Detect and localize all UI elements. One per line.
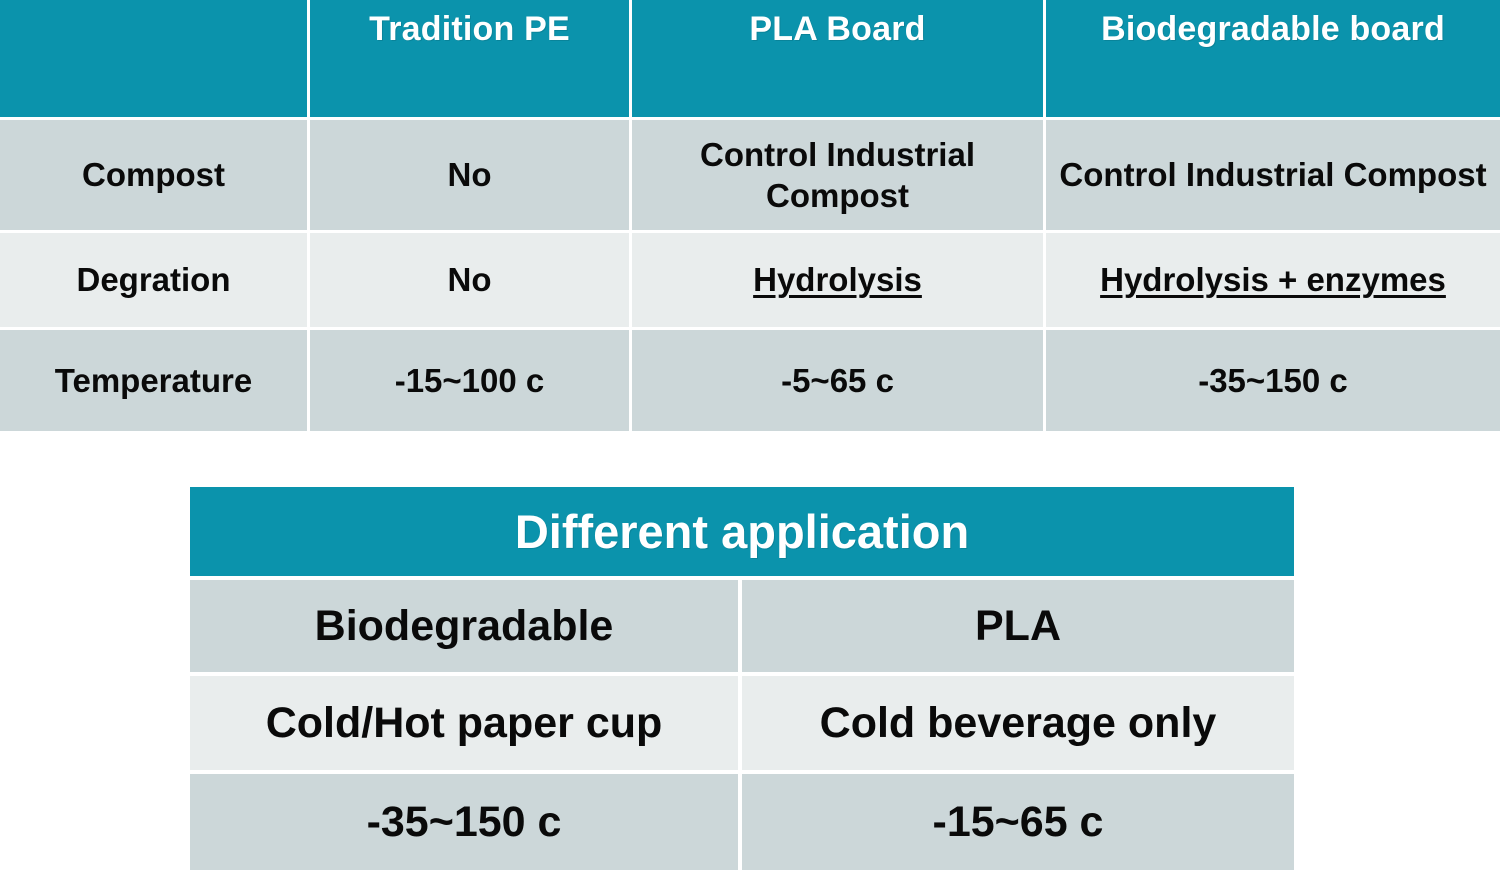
cell-usage-biodegradable: Cold/Hot paper cup	[190, 676, 742, 774]
cell-temp-pla: -15~65 c	[742, 774, 1294, 874]
table-row: Temperature -15~100 c -5~65 c -35~150 c	[0, 330, 1500, 434]
table-row: Compost No Control Industrial Compost Co…	[0, 120, 1500, 233]
row-label-degration: Degration	[0, 233, 310, 330]
cell-temperature-pla-board: -5~65 c	[632, 330, 1046, 434]
cell-temperature-tradition-pe: -15~100 c	[310, 330, 632, 434]
header-cell-empty	[0, 0, 310, 120]
cell-material-biodegradable: Biodegradable	[190, 580, 742, 676]
comparison-table: Tradition PE PLA Board Biodegradable boa…	[0, 0, 1500, 434]
cell-degration-pla-board: Hydrolysis	[632, 233, 1046, 330]
comparison-header-row: Tradition PE PLA Board Biodegradable boa…	[0, 0, 1500, 120]
row-label-compost: Compost	[0, 120, 310, 233]
table-row: Degration No Hydrolysis Hydrolysis + enz…	[0, 233, 1500, 330]
cell-usage-pla: Cold beverage only	[742, 676, 1294, 774]
header-cell-biodegradable-board: Biodegradable board	[1046, 0, 1500, 120]
cell-degration-pla-board-text: Hydrolysis	[753, 261, 922, 298]
table-row: Biodegradable PLA	[190, 580, 1294, 676]
cell-degration-biodegradable-board: Hydrolysis + enzymes	[1046, 233, 1500, 330]
cell-compost-tradition-pe: No	[310, 120, 632, 233]
cell-degration-biodegradable-board-text: Hydrolysis + enzymes	[1100, 261, 1446, 298]
table-row: Cold/Hot paper cup Cold beverage only	[190, 676, 1294, 774]
cell-material-pla: PLA	[742, 580, 1294, 676]
header-cell-pla-board: PLA Board	[632, 0, 1046, 120]
cell-compost-biodegradable-board: Control Industrial Compost	[1046, 120, 1500, 233]
cell-compost-pla-board: Control Industrial Compost	[632, 120, 1046, 233]
cell-temperature-biodegradable-board: -35~150 c	[1046, 330, 1500, 434]
cell-degration-tradition-pe: No	[310, 233, 632, 330]
row-label-temperature: Temperature	[0, 330, 310, 434]
application-table: Different application Biodegradable PLA …	[190, 487, 1294, 874]
table-row: -35~150 c -15~65 c	[190, 774, 1294, 874]
application-table-title: Different application	[190, 487, 1294, 580]
cell-temp-biodegradable: -35~150 c	[190, 774, 742, 874]
header-cell-tradition-pe: Tradition PE	[310, 0, 632, 120]
application-title-row: Different application	[190, 487, 1294, 580]
